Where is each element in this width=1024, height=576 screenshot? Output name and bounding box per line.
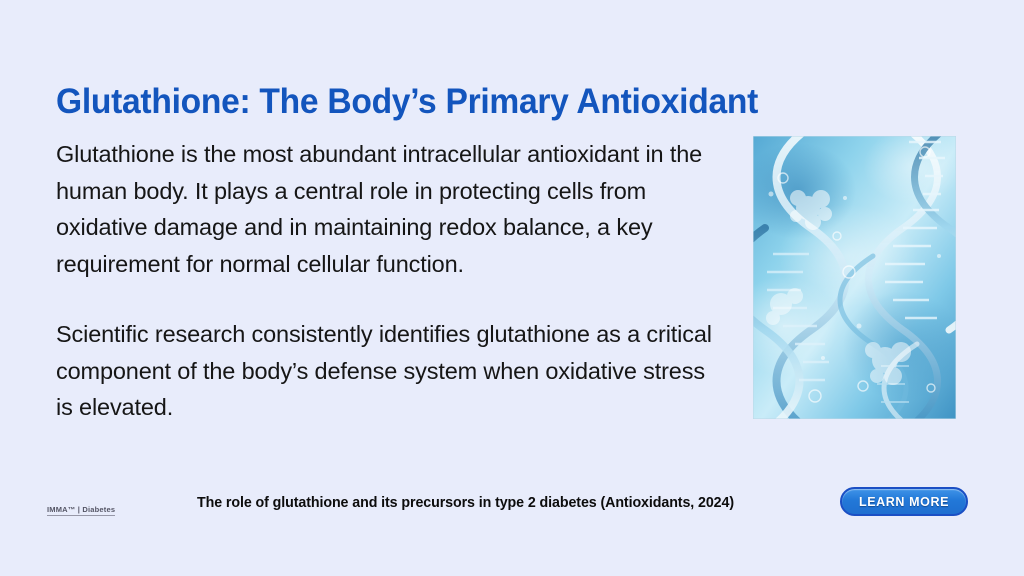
body-text-block: Glutathione is the most abundant intrace… xyxy=(56,136,726,426)
brand-watermark: IMMA™ | Diabetes xyxy=(47,505,115,516)
slide-canvas: Glutathione: The Body’s Primary Antioxid… xyxy=(0,0,1024,576)
dna-illustration-graphic xyxy=(753,136,956,419)
source-citation: The role of glutathione and its precurso… xyxy=(197,494,734,511)
paragraph-2: Scientific research consistently identif… xyxy=(56,316,726,426)
page-title: Glutathione: The Body’s Primary Antioxid… xyxy=(56,83,901,122)
paragraph-1: Glutathione is the most abundant intrace… xyxy=(56,136,726,282)
learn-more-button[interactable]: LEARN MORE xyxy=(840,487,968,516)
dna-double-helix-illustration xyxy=(753,136,956,419)
learn-more-label: LEARN MORE xyxy=(859,495,949,509)
